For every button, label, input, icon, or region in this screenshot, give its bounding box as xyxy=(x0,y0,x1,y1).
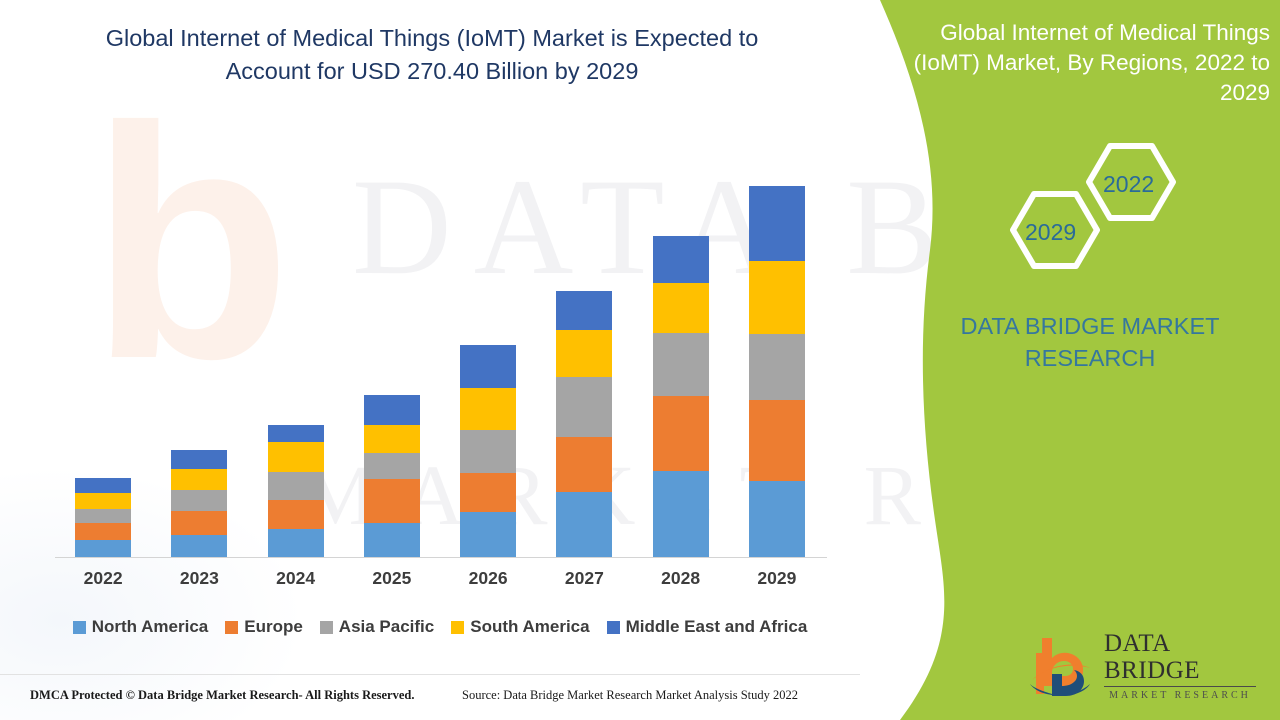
bar-segment xyxy=(460,388,516,430)
legend-item-europe[interactable]: Europe xyxy=(225,617,303,637)
bar-segment xyxy=(268,472,324,500)
bar-segment xyxy=(268,529,324,557)
bar-column-2029 xyxy=(749,186,805,557)
bar-segment xyxy=(653,471,709,557)
bar-segment xyxy=(364,453,420,479)
bar-segment xyxy=(75,478,131,493)
x-axis-line xyxy=(55,557,827,558)
bar-segment xyxy=(75,523,131,540)
data-bridge-logo-wordmark: DATA BRIDGE MARKET RESEARCH xyxy=(1104,630,1256,701)
x-axis-label-2027: 2027 xyxy=(556,568,612,589)
bar-segment xyxy=(556,377,612,437)
footer-source-text: Source: Data Bridge Market Research Mark… xyxy=(462,688,798,703)
bar-segment xyxy=(460,473,516,512)
brand-caption: DATA BRIDGE MARKET RESEARCH xyxy=(910,310,1270,375)
legend-swatch-icon xyxy=(320,621,333,634)
hexagon-label-end-year: 2029 xyxy=(1025,219,1076,246)
bars-row xyxy=(55,120,825,557)
bar-segment xyxy=(556,291,612,330)
bar-segment xyxy=(171,511,227,535)
bar-segment xyxy=(749,400,805,481)
legend-item-north-america[interactable]: North America xyxy=(73,617,209,637)
bar-segment xyxy=(364,523,420,557)
chart-legend: North AmericaEuropeAsia PacificSouth Ame… xyxy=(50,617,830,637)
bar-segment xyxy=(556,492,612,557)
data-bridge-logo: DATA BRIDGE MARKET RESEARCH xyxy=(1026,626,1256,704)
bar-segment xyxy=(171,535,227,557)
legend-label: Middle East and Africa xyxy=(626,617,808,637)
bar-segment xyxy=(268,442,324,472)
legend-swatch-icon xyxy=(73,621,86,634)
legend-label: Asia Pacific xyxy=(339,617,434,637)
hexagon-label-start-year: 2022 xyxy=(1103,171,1154,198)
bar-segment xyxy=(556,437,612,492)
bar-segment xyxy=(460,345,516,388)
data-bridge-logo-icon xyxy=(1026,628,1100,702)
x-axis-label-2028: 2028 xyxy=(653,568,709,589)
footer-bar: DMCA Protected © Data Bridge Market Rese… xyxy=(0,674,860,720)
x-axis-label-2023: 2023 xyxy=(171,568,227,589)
hexagon-year-group: 2022 2029 xyxy=(992,130,1192,280)
legend-item-middle-east-and-africa[interactable]: Middle East and Africa xyxy=(607,617,808,637)
bar-segment xyxy=(364,479,420,523)
legend-swatch-icon xyxy=(451,621,464,634)
chart-title: Global Internet of Medical Things (IoMT)… xyxy=(62,22,802,89)
bar-segment xyxy=(75,493,131,509)
x-axis-label-2022: 2022 xyxy=(75,568,131,589)
x-axis-label-2024: 2024 xyxy=(268,568,324,589)
bar-column-2028 xyxy=(653,236,709,557)
bar-segment xyxy=(653,283,709,333)
bar-column-2023 xyxy=(171,450,227,557)
bar-column-2024 xyxy=(268,425,324,557)
legend-label: Europe xyxy=(244,617,303,637)
x-axis-labels: 20222023202420252026202720282029 xyxy=(55,568,825,589)
bar-segment xyxy=(75,540,131,557)
bar-segment xyxy=(749,261,805,334)
legend-swatch-icon xyxy=(225,621,238,634)
logo-title: DATA BRIDGE xyxy=(1104,630,1256,687)
panel-title: Global Internet of Medical Things (IoMT)… xyxy=(888,18,1270,108)
bar-segment xyxy=(268,500,324,529)
legend-label: South America xyxy=(470,617,589,637)
x-axis-label-2029: 2029 xyxy=(749,568,805,589)
bar-segment xyxy=(749,481,805,557)
legend-item-south-america[interactable]: South America xyxy=(451,617,589,637)
bar-segment xyxy=(171,469,227,490)
bar-column-2022 xyxy=(75,478,131,557)
logo-subtitle: MARKET RESEARCH xyxy=(1104,690,1256,701)
bar-segment xyxy=(171,450,227,469)
legend-swatch-icon xyxy=(607,621,620,634)
footer-dmca-text: DMCA Protected © Data Bridge Market Rese… xyxy=(30,688,415,703)
bar-segment xyxy=(653,236,709,283)
bar-segment xyxy=(268,425,324,442)
chart-plot-area xyxy=(55,120,825,557)
legend-label: North America xyxy=(92,617,209,637)
bar-column-2025 xyxy=(364,395,420,557)
bar-column-2027 xyxy=(556,291,612,557)
x-axis-label-2026: 2026 xyxy=(460,568,516,589)
bar-segment xyxy=(171,490,227,511)
bar-segment xyxy=(749,334,805,400)
bar-segment xyxy=(364,425,420,453)
bar-column-2026 xyxy=(460,345,516,557)
bar-segment xyxy=(749,186,805,261)
bar-segment xyxy=(460,430,516,473)
bar-segment xyxy=(75,509,131,523)
bar-segment xyxy=(460,512,516,557)
legend-item-asia-pacific[interactable]: Asia Pacific xyxy=(320,617,434,637)
bar-segment xyxy=(364,395,420,425)
bar-segment xyxy=(556,330,612,377)
x-axis-label-2025: 2025 xyxy=(364,568,420,589)
bar-segment xyxy=(653,396,709,471)
bar-segment xyxy=(653,333,709,396)
